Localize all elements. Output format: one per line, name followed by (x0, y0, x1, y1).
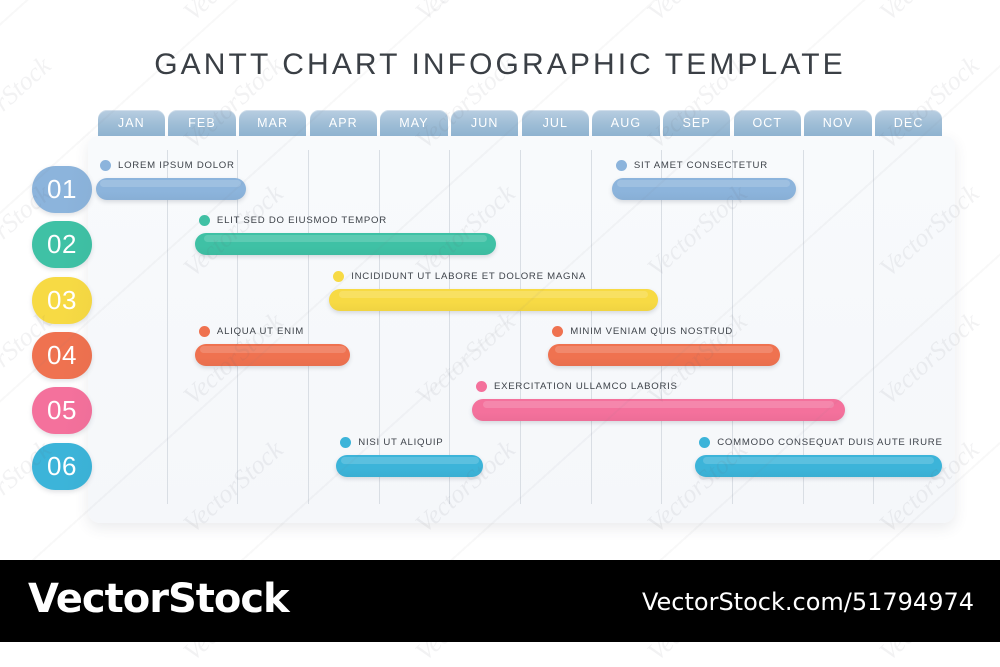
watermark-text: VectorStock (178, 0, 289, 27)
task-bar[interactable] (472, 399, 845, 421)
task-label-text: SIT AMET CONSECTETUR (634, 160, 768, 171)
task-label-text: INCIDIDUNT UT LABORE ET DOLORE MAGNA (351, 271, 586, 282)
watermark-text: VectorStock (874, 0, 985, 27)
task-label-text: ALIQUA UT ENIM (217, 326, 304, 337)
task-label: ELIT SED DO EIUSMOD TEMPOR (199, 215, 387, 226)
page-title: GANTT CHART INFOGRAPHIC TEMPLATE (0, 48, 1000, 82)
gridline (803, 150, 804, 504)
gridline (308, 150, 309, 504)
month-tab-sep[interactable]: SEP (663, 110, 731, 136)
row-badge-02[interactable]: 02 (32, 221, 92, 268)
task-dot-icon (552, 326, 563, 337)
vectorstock-logo: VectorStock (28, 576, 289, 622)
row-badge-06[interactable]: 06 (32, 443, 92, 490)
watermark-text: VectorStock (0, 0, 57, 27)
task-label: NISI UT ALIQUIP (340, 437, 443, 448)
month-tab-mar[interactable]: MAR (239, 110, 307, 136)
task-dot-icon (340, 437, 351, 448)
task-label: COMMODO CONSEQUAT DUIS AUTE IRURE (699, 437, 942, 448)
task-dot-icon (333, 271, 344, 282)
task-label-text: EXERCITATION ULLAMCO LABORIS (494, 381, 678, 392)
month-tab-feb[interactable]: FEB (168, 110, 236, 136)
task-bar[interactable] (195, 344, 350, 366)
task-label-text: MINIM VENIAM QUIS NOSTRUD (570, 326, 733, 337)
row-badge-03[interactable]: 03 (32, 277, 92, 324)
task-bar[interactable] (612, 178, 796, 200)
footer-bar: VectorStock VectorStock.com/51794974 (0, 560, 1000, 642)
task-label: INCIDIDUNT UT LABORE ET DOLORE MAGNA (333, 271, 586, 282)
task-label-text: LOREM IPSUM DOLOR (118, 160, 235, 171)
task-bar[interactable] (336, 455, 483, 477)
gridline (379, 150, 380, 504)
task-label: SIT AMET CONSECTETUR (616, 160, 768, 171)
watermark-text: VectorStock (642, 0, 753, 27)
month-tab-nov[interactable]: NOV (804, 110, 872, 136)
task-dot-icon (199, 215, 210, 226)
task-dot-icon (100, 160, 111, 171)
gridline (167, 150, 168, 504)
task-bar[interactable] (695, 455, 942, 477)
row-badge-04[interactable]: 04 (32, 332, 92, 379)
gridline (873, 150, 874, 504)
vectorstock-url: VectorStock.com/51794974 (642, 588, 974, 616)
task-bar[interactable] (329, 289, 658, 311)
task-label: EXERCITATION ULLAMCO LABORIS (476, 381, 678, 392)
task-label-text: ELIT SED DO EIUSMOD TEMPOR (217, 215, 387, 226)
task-dot-icon (476, 381, 487, 392)
task-label: LOREM IPSUM DOLOR (100, 160, 235, 171)
month-tab-jan[interactable]: JAN (98, 110, 166, 136)
task-bar[interactable] (195, 233, 496, 255)
task-label-text: COMMODO CONSEQUAT DUIS AUTE IRURE (717, 437, 942, 448)
month-tab-apr[interactable]: APR (310, 110, 378, 136)
task-label: ALIQUA UT ENIM (199, 326, 304, 337)
task-bar[interactable] (548, 344, 780, 366)
month-tab-aug[interactable]: AUG (592, 110, 660, 136)
month-tab-jun[interactable]: JUN (451, 110, 519, 136)
month-tab-oct[interactable]: OCT (734, 110, 802, 136)
task-bar[interactable] (96, 178, 246, 200)
task-label: MINIM VENIAM QUIS NOSTRUD (552, 326, 733, 337)
task-dot-icon (616, 160, 627, 171)
gridline (520, 150, 521, 504)
watermark-text: VectorStock (410, 0, 521, 27)
row-badge-01[interactable]: 01 (32, 166, 92, 213)
task-label-text: NISI UT ALIQUIP (358, 437, 443, 448)
gridline (449, 150, 450, 504)
month-tab-jul[interactable]: JUL (522, 110, 590, 136)
month-header-row: JANFEBMARAPRMAYJUNJULAUGSEPOCTNOVDEC (96, 110, 944, 136)
row-badge-05[interactable]: 05 (32, 387, 92, 434)
task-dot-icon (699, 437, 710, 448)
month-tab-dec[interactable]: DEC (875, 110, 943, 136)
task-dot-icon (199, 326, 210, 337)
month-tab-may[interactable]: MAY (380, 110, 448, 136)
